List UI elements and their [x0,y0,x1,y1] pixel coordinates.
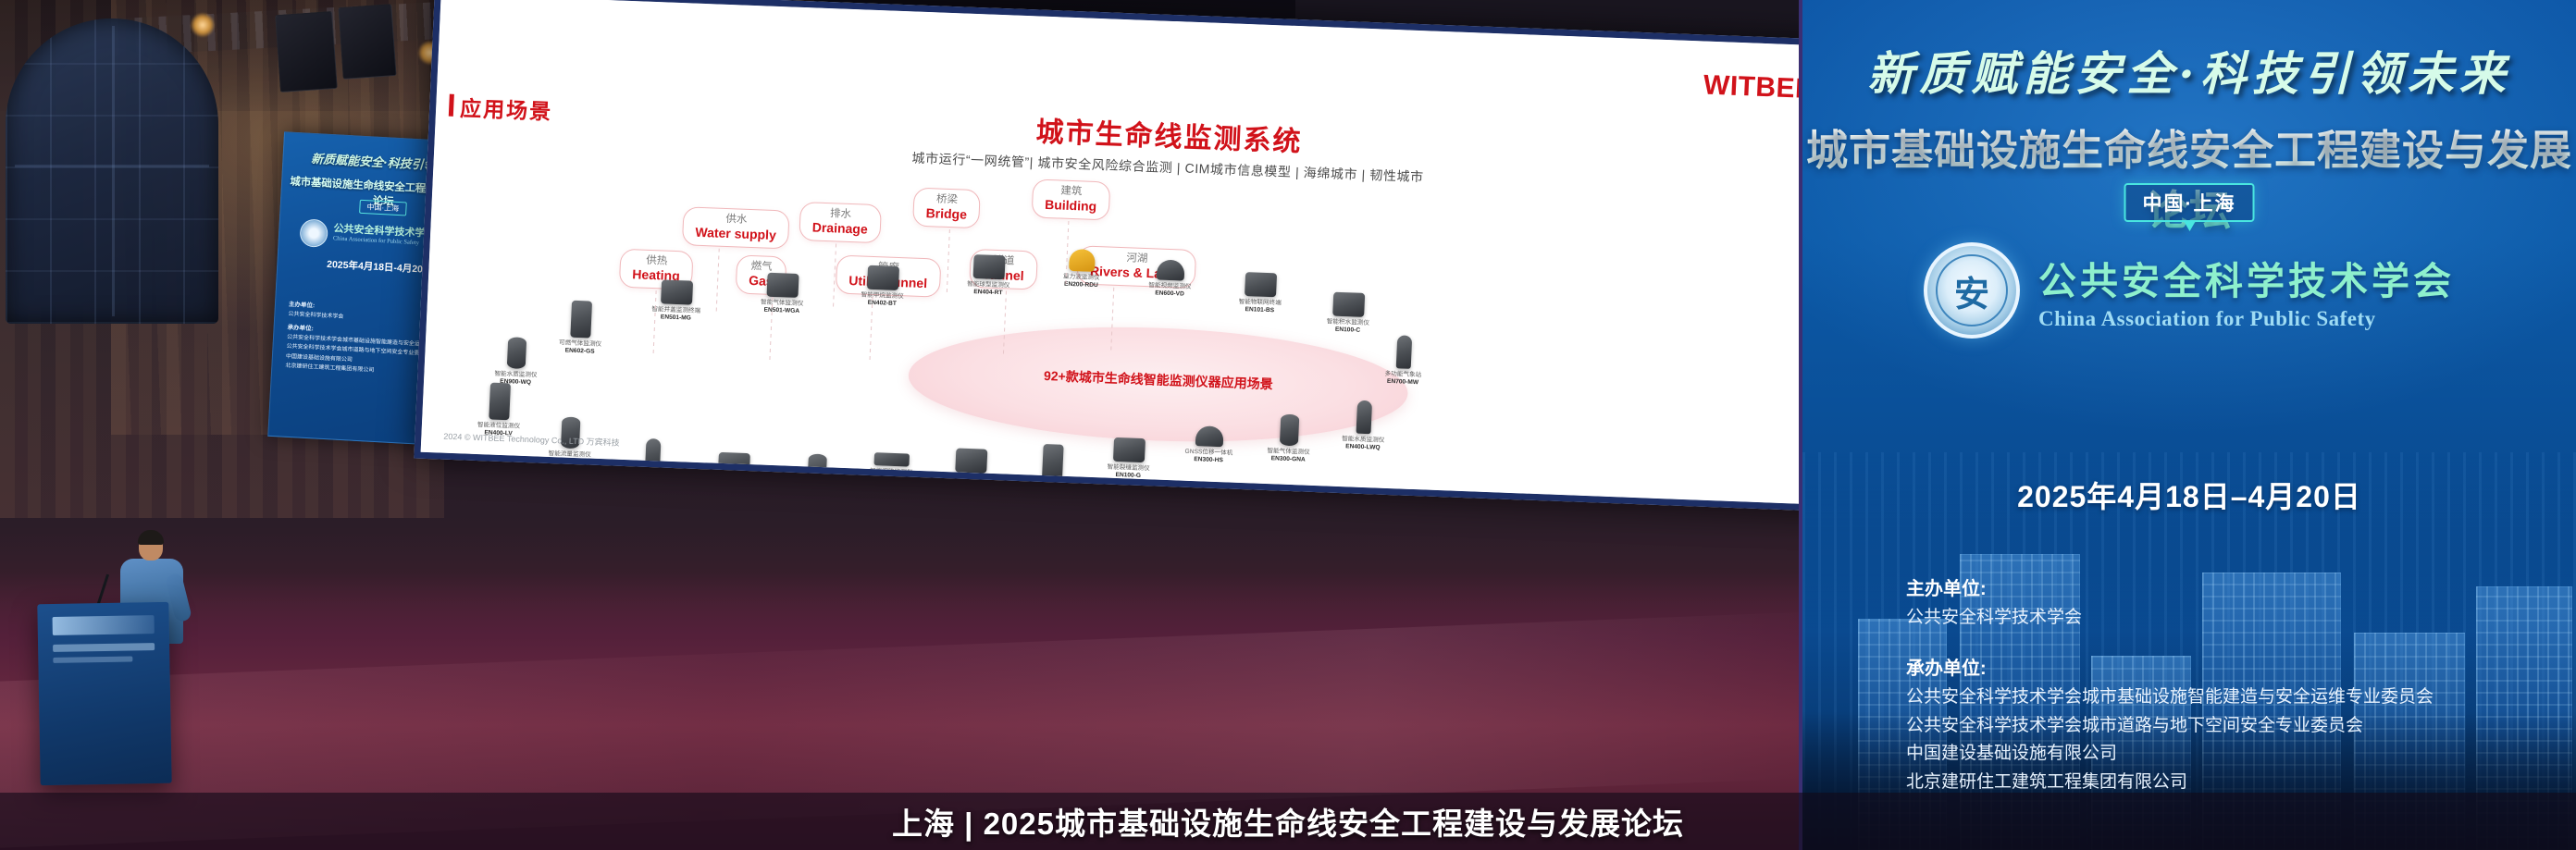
podium-text-line-2 [53,656,132,663]
led-screen: WITBEE 万宾 应用场景 城市生命线监测系统 城市运行“一网统管”| 城市安… [414,0,1914,514]
device-icon [1157,259,1185,280]
association-name-en: China Association for Public Safety [2038,307,2455,331]
device-icon [1332,292,1365,317]
association-names: 公共安全科学技术学会 China Association for Public … [2038,250,2455,331]
device-item: 智能水质监测仪EN900-WQ [479,336,553,387]
device-icon [955,448,987,473]
device-item: 智能井盖监测终端EN501-MG [639,279,713,323]
device-item: GNSS位移一体机EN300-HS [1172,425,1246,464]
device-icon [570,301,592,339]
arched-window [6,18,218,324]
device-item: 智能气体监测仪EN501-WGA [746,272,820,315]
device-code: EN402-BT [846,299,918,308]
coorganizer-item: 中国建设基础设施有限公司 [1906,740,2548,769]
speaker-cabinet-1 [275,11,338,92]
caption-text: 上海 | 2025城市基础设施生命线安全工程建设与发展论坛 [892,799,1684,844]
poster-association-block: 安 公共安全科学技术学会 China Association for Publi… [1802,242,2576,339]
device-icon [1042,444,1064,482]
forum-poster-panel: 新质赋能安全·科技引领未来 城市基础设施生命线安全工程建设与发展论坛 中国·上海… [1799,0,2576,850]
podium-text-line-1 [53,643,155,652]
poster-organizers: 主办单位: 公共安全科学技术学会 承办单位: 公共安全科学技术学会城市基础设施智… [1906,573,2548,797]
device-item: 智能球型监测仪EN404-RT [952,253,1026,297]
device-item: 智能水质监测仪EN400-LWQ [1327,400,1401,452]
poster-location-badge: 中国·上海 [2124,183,2255,222]
device-icon [1113,437,1146,462]
device-icon [661,279,693,304]
device-icon [1069,249,1096,272]
device-icon [1396,335,1413,369]
presentation-slide: WITBEE 万宾 应用场景 城市生命线监测系统 城市运行“一网统管”| 城市安… [421,0,1908,507]
device-item: 智能裂缝监测仪EN100-G [1092,437,1166,480]
device-icon [1195,425,1224,447]
device-icon [1245,272,1277,297]
seal-glyph: 安 [1927,246,2016,335]
screenshot-root: 新质赋能安全·科技引领未来 城市基础设施生命线安全工程建设与发展论坛 中国·上海… [0,0,2576,850]
device-item: 多功能气象站EN700-MW [1367,334,1441,387]
device-icon [1280,414,1299,447]
speaker-cabinet-2 [338,4,396,80]
device-item: 智能甲烷监测仪EN402-BT [846,265,920,308]
device-item: 智能视频监测仪EN600-VD [1133,259,1207,299]
association-seal-icon: 安 [1924,242,2020,339]
device-icon [507,337,526,369]
device-code: EN101-BS [1223,305,1295,314]
device-icon [867,265,899,290]
association-name-cn: 公共安全科学技术学会 [2038,250,2455,305]
podium-logo [53,615,155,635]
device-group: 智能井盖监测终端EN501-MG可燃气体监测仪EN602-GS智能水质监测仪EN… [421,0,1908,507]
device-item: 智能液位监测仪EN400-LV [462,381,537,437]
device-item: 智能物联网终端EN101-BS [1223,271,1297,314]
organizer-spacer [1906,633,2548,653]
window-mullions [6,18,218,324]
poster-date: 2025年4月18日–4月20日 [1802,474,2576,516]
host-item: 公共安全科学技术学会 [1906,604,2548,633]
device-item: 智能气体监测仪EN300-GNA [1252,413,1326,464]
device-icon [873,452,910,466]
stage-spotlight-1 [191,13,215,37]
device-item: 重力波监测仪EN200-RDU [1045,248,1119,289]
device-icon [766,273,799,298]
coorganizer-item: 公共安全科学技术学会城市基础设施智能建造与安全运维专业委员会 [1906,684,2548,712]
standee-location-badge: 中国·上海 [359,200,406,216]
bottom-caption-bar: 上海 | 2025城市基础设施生命线安全工程建设与发展论坛 [0,793,2576,850]
device-item: 智能积水监测仪EN100-C [1311,291,1385,335]
coorganizer-item: 公共安全科学技术学会城市道路与地下空间安全专业委员会 [1906,712,2548,741]
device-icon [489,383,511,421]
device-icon [1356,400,1373,435]
device-icon [645,438,662,473]
poster-calligraphy-slogan: 新质赋能安全·科技引领未来 [1802,37,2576,104]
coorganizer-label: 承办单位: [1906,653,2548,680]
podium [37,602,171,785]
standee-association-seal [299,218,328,248]
device-icon [973,254,1006,279]
device-name: 智能流量监测仪 [533,450,605,460]
device-code: EN602-GS [544,347,616,356]
device-item: 可燃气体监测仪EN602-GS [544,300,619,356]
host-label: 主办单位: [1906,573,2548,600]
